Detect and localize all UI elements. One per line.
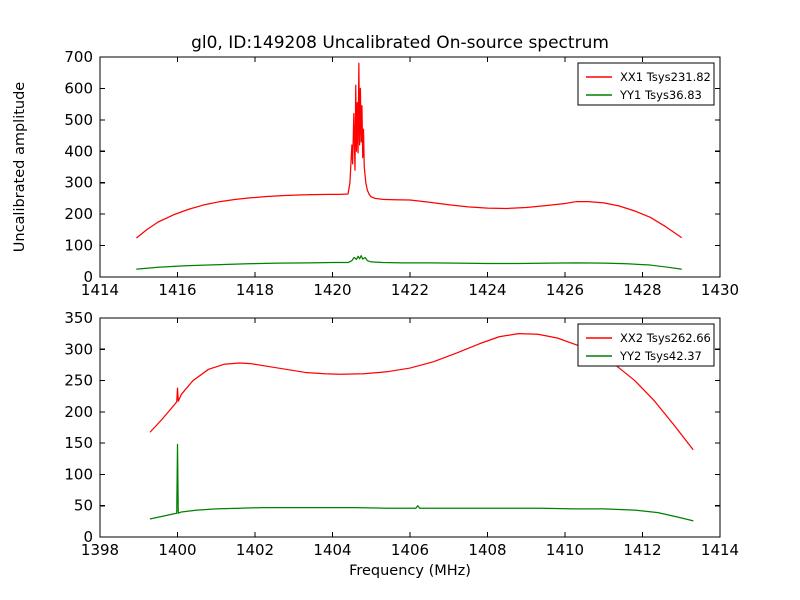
x-tick-label: 1404 <box>313 541 351 559</box>
x-tick-label: 1418 <box>236 281 274 299</box>
legend-label: YY1 Tsys36.83 <box>619 88 702 102</box>
x-tick-label: 1400 <box>158 541 196 559</box>
legend-label: XX2 Tsys262.66 <box>620 331 711 345</box>
x-tick-label: 1408 <box>468 541 506 559</box>
x-tick-label: 1416 <box>158 281 196 299</box>
legend-label: YY2 Tsys42.37 <box>619 349 702 363</box>
x-tick-label: 1430 <box>701 281 739 299</box>
y-tick-label: 0 <box>83 268 93 286</box>
x-tick-label: 1414 <box>701 541 739 559</box>
x-tick-label: 1426 <box>546 281 584 299</box>
x-tick-label: 1420 <box>313 281 351 299</box>
x-tick-label: 1428 <box>623 281 661 299</box>
figure-canvas: gl0, ID:149208 Uncalibrated On-source sp… <box>0 0 800 600</box>
y-tick-label: 100 <box>64 237 93 255</box>
page-title: gl0, ID:149208 Uncalibrated On-source sp… <box>191 33 609 53</box>
x-tick-label: 1412 <box>623 541 661 559</box>
y-tick-label: 0 <box>83 528 93 546</box>
y-tick-label: 50 <box>74 497 93 515</box>
x-tick-label: 1424 <box>468 281 506 299</box>
legend-label: XX1 Tsys231.82 <box>620 70 711 84</box>
y-axis-label: Uncalibrated amplitude <box>12 82 28 253</box>
y-tick-label: 600 <box>64 79 93 97</box>
x-tick-label: 1422 <box>391 281 429 299</box>
y-tick-label: 300 <box>64 174 93 192</box>
y-tick-label: 200 <box>64 403 93 421</box>
y-tick-label: 350 <box>64 309 93 327</box>
y-tick-label: 150 <box>64 434 93 452</box>
y-tick-label: 250 <box>64 372 93 390</box>
y-tick-label: 300 <box>64 340 93 358</box>
spectrum-figure: gl0, ID:149208 Uncalibrated On-source sp… <box>0 0 800 600</box>
y-tick-label: 700 <box>64 48 93 66</box>
x-axis-label: Frequency (MHz) <box>349 563 471 579</box>
y-tick-label: 400 <box>64 142 93 160</box>
y-tick-label: 500 <box>64 111 93 129</box>
x-tick-label: 1406 <box>391 541 429 559</box>
x-tick-label: 1410 <box>546 541 584 559</box>
x-tick-label: 1402 <box>236 541 274 559</box>
y-tick-label: 100 <box>64 465 93 483</box>
y-tick-label: 200 <box>64 205 93 223</box>
